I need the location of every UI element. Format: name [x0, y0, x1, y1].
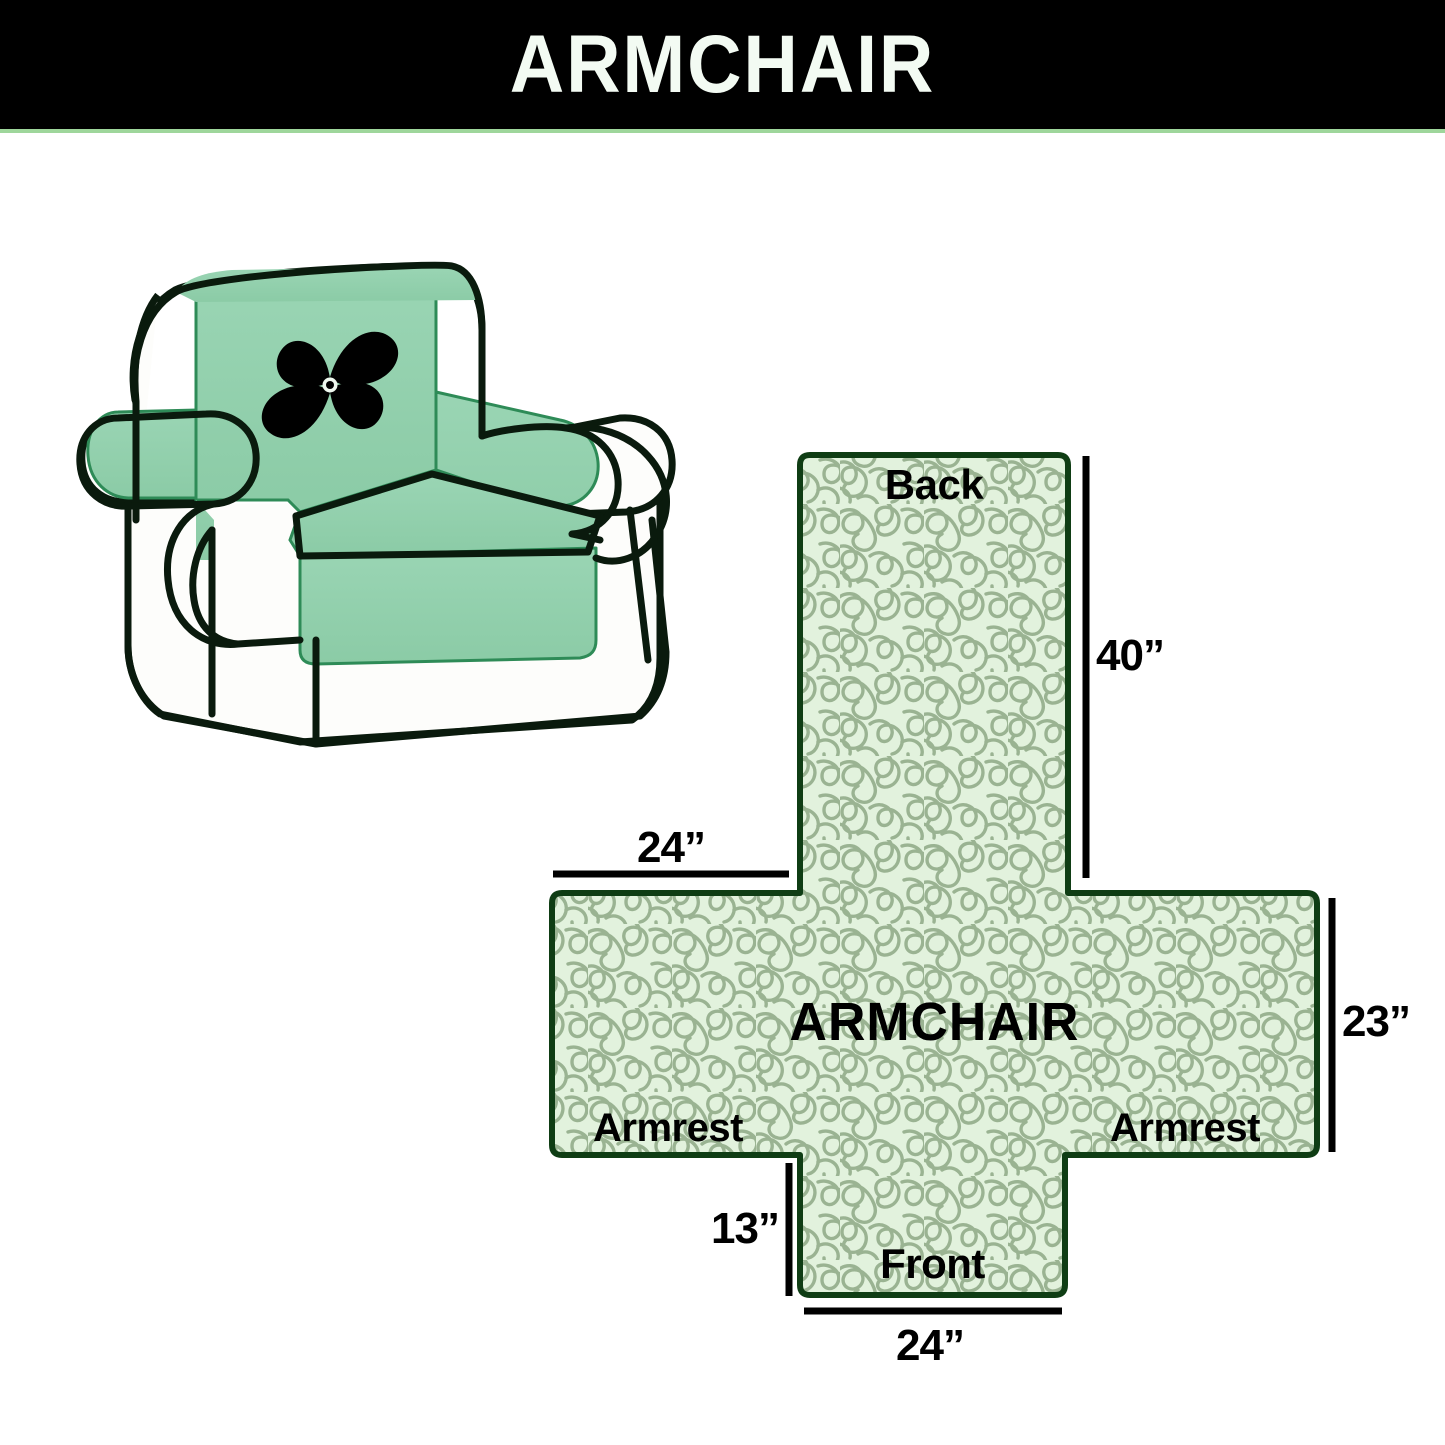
- panel-label-armrest-right: Armrest: [1110, 1108, 1260, 1148]
- panel-label-armchair: ARMCHAIR: [567, 995, 1301, 1049]
- dimension-label-back-width: 24”: [637, 826, 705, 870]
- armchair-size-diagram-page: ARMCHAIR: [0, 0, 1445, 1445]
- panel-label-front: Front: [800, 1243, 1065, 1285]
- dimension-label-armrest-height: 23”: [1342, 1000, 1410, 1044]
- panel-label-armrest-left: Armrest: [593, 1108, 743, 1148]
- dimension-label-front-height: 13”: [711, 1207, 779, 1251]
- dimension-label-front-width: 24”: [896, 1324, 964, 1368]
- panel-label-back: Back: [0, 464, 1068, 506]
- dimension-label-back-height: 40”: [1096, 634, 1164, 678]
